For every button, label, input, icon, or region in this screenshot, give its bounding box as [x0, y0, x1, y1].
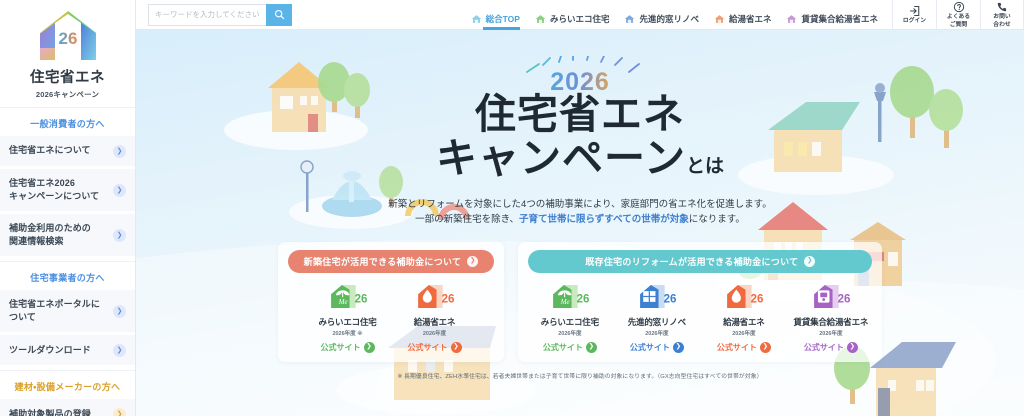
official-site-label: 公式サイト	[630, 342, 670, 353]
utility-item-label: お問い 合わせ	[993, 14, 1010, 28]
chevron-right-icon: ❯	[113, 145, 126, 158]
chevron-right-icon: ❯	[113, 305, 126, 318]
program-icon: 26	[808, 281, 854, 312]
sidebar-item-1-1[interactable]: 住宅省エネについて❯	[0, 136, 135, 166]
hero-title-line1: 住宅省エネ	[436, 92, 724, 136]
search-box	[148, 4, 292, 26]
program-name: 先進的窓リノベ	[628, 316, 686, 328]
hero-year-block: 2026	[505, 56, 655, 90]
svg-text:26: 26	[576, 294, 589, 306]
program-house-icon: Me26	[325, 281, 371, 312]
program-icon: 26	[634, 281, 680, 312]
program-card-給湯省エネ[interactable]: 26給湯省エネ2026年度公式サイト❯	[393, 281, 476, 353]
program-house-icon: 26	[808, 281, 854, 312]
utility-item-label: ログイン	[903, 18, 926, 25]
window-icon	[643, 291, 655, 302]
utility-item-label: よくある ご質問	[947, 14, 970, 28]
program-name: みらいエコ住宅	[318, 316, 376, 328]
program-card-賃貸集合給湯省エネ[interactable]: 26賃貸集合給湯省エネ2026年度公式サイト❯	[789, 281, 872, 353]
phone-icon	[996, 1, 1008, 13]
official-site-link[interactable]: 公式サイト❯	[408, 342, 462, 353]
page-title: 住宅省エネ キャンペーンとは	[436, 92, 724, 181]
arrow-right-circle-icon: ❯	[364, 342, 375, 353]
hero-year: 2026	[505, 68, 655, 97]
program-card-みらいエコ住宅[interactable]: Me26みらいエコ住宅2026年度公式サイト❯	[528, 281, 611, 353]
arrow-right-circle-icon: ❯	[467, 256, 478, 267]
subsidy-panel-2: 既存住宅のリフォームが活用できる補助金について❯Me26みらいエコ住宅2026年…	[518, 242, 882, 362]
program-name: みらいエコ住宅	[541, 316, 599, 328]
water-heater-icon	[818, 290, 830, 302]
house-icon	[714, 14, 725, 24]
program-house-icon: 26	[634, 281, 680, 312]
svg-text:Me: Me	[337, 299, 347, 306]
program-year: 2026年度	[645, 329, 668, 337]
program-house-icon: 26	[721, 281, 767, 312]
utility-item-1[interactable]: ログイン	[892, 0, 936, 30]
panel-header-button-1[interactable]: 新築住宅が活用できる補助金について❯	[288, 250, 495, 273]
svg-text:Me: Me	[560, 299, 570, 306]
program-card-みらいエコ住宅[interactable]: Me26みらいエコ住宅2026年度 ※公式サイト❯	[306, 281, 389, 353]
sidebar-item-label: ツールダウンロード	[9, 344, 91, 357]
hero-title-line2: キャンペーン	[436, 135, 686, 181]
sidebar-item-2-2[interactable]: ツールダウンロード❯	[0, 335, 135, 365]
nav-tab-label: みらいエコ住宅	[550, 13, 610, 25]
official-site-link[interactable]: 公式サイト❯	[804, 342, 858, 353]
panel-header-label: 既存住宅のリフォームが活用できる補助金について	[585, 255, 798, 268]
sidebar-item-3-1[interactable]: 補助対象製品の登録❯	[0, 399, 135, 416]
nav-tab-label: 賃貸集合給湯省エネ	[801, 13, 878, 25]
official-site-label: 公式サイト	[321, 342, 361, 353]
subsidy-panels: 新築住宅が活用できる補助金について❯Me26みらいエコ住宅2026年度 ※公式サ…	[278, 242, 883, 362]
program-name: 賃貸集合給湯省エネ	[793, 316, 868, 328]
program-year: 2026年度 ※	[332, 329, 362, 337]
official-site-link[interactable]: 公式サイト❯	[630, 342, 684, 353]
arrow-right-circle-icon: ❯	[760, 342, 771, 353]
arrow-right-circle-icon: ❯	[586, 342, 597, 353]
login-icon	[909, 5, 921, 17]
program-name: 給湯省エネ	[414, 316, 456, 328]
sidebar: 26 住宅省エネ 2026キャンペーン 一般消費者の方へ住宅省エネについて❯住宅…	[0, 0, 136, 416]
sidebar-item-1-2[interactable]: 住宅省エネ2026 キャンペーンについて❯	[0, 169, 135, 211]
sidebar-item-1-3[interactable]: 補助金利用のための 関連情報検索❯	[0, 214, 135, 256]
sidebar-item-label: 補助対象製品の登録	[9, 408, 91, 416]
panel-cards: Me26みらいエコ住宅2026年度 ※公式サイト❯26給湯省エネ2026年度公式…	[288, 281, 495, 353]
sidebar-item-label: 住宅省エネポータルについて	[9, 298, 109, 324]
program-card-先進的窓リノベ[interactable]: 26先進的窓リノベ2026年度公式サイト❯	[615, 281, 698, 353]
primary-nav: 総合TOPみらいエコ住宅先進的窓リノベ給湯省エネ賃貸集合給湯省エネ	[471, 0, 878, 30]
panel-cards: Me26みらいエコ住宅2026年度公式サイト❯26先進的窓リノベ2026年度公式…	[528, 281, 872, 353]
panel-header-button-2[interactable]: 既存住宅のリフォームが活用できる補助金について❯	[528, 250, 872, 273]
question-circle-icon	[953, 1, 965, 13]
official-site-link[interactable]: 公式サイト❯	[717, 342, 771, 353]
nav-tab-2[interactable]: みらいエコ住宅	[535, 0, 610, 30]
hero-desc-highlight: 子育て世帯に限らずすべての世帯が対象	[519, 214, 689, 225]
sidebar-item-label: 住宅省エネについて	[9, 144, 91, 157]
sidebar-item-2-1[interactable]: 住宅省エネポータルについて❯	[0, 290, 135, 332]
logo-subtitle: 2026キャンペーン	[36, 89, 99, 100]
program-house-icon: 26	[412, 281, 458, 312]
program-year: 2026年度	[732, 329, 755, 337]
arrow-right-circle-icon: ❯	[804, 256, 815, 267]
house-icon	[624, 14, 635, 24]
nav-tab-4[interactable]: 給湯省エネ	[714, 0, 772, 30]
chevron-right-icon: ❯	[113, 344, 126, 357]
svg-text:26: 26	[663, 294, 676, 306]
utility-nav: ログインよくある ご質問お問い 合わせ	[892, 0, 1024, 30]
sidebar-section-heading: 建材・設備メーカーの方へ	[0, 371, 135, 399]
sidebar-section-heading: 住宅事業者の方へ	[0, 262, 135, 290]
svg-text:26: 26	[837, 294, 850, 306]
svg-text:26: 26	[750, 294, 763, 306]
official-site-link[interactable]: 公式サイト❯	[321, 342, 375, 353]
official-site-label: 公式サイト	[408, 342, 448, 353]
hero-description: 新築とリフォームを対象にした4つの補助事業により、家庭部門の省エネ化を促進します…	[388, 197, 771, 228]
nav-tab-label: 総合TOP	[486, 13, 520, 25]
main-area: 総合TOPみらいエコ住宅先進的窓リノベ給湯省エネ賃貸集合給湯省エネ ログインよく…	[136, 0, 1024, 416]
sidebar-nav: 一般消費者の方へ住宅省エネについて❯住宅省エネ2026 キャンペーンについて❯補…	[0, 108, 135, 416]
chevron-right-icon: ❯	[113, 184, 126, 197]
program-house-icon: Me26	[547, 281, 593, 312]
site-logo[interactable]: 26 住宅省エネ 2026キャンペーン	[0, 0, 135, 108]
house-icon	[786, 14, 797, 24]
house-icon	[535, 14, 546, 24]
svg-text:26: 26	[58, 29, 77, 48]
hero-desc-line1: 新築とリフォームを対象にした4つの補助事業により、家庭部門の省エネ化を促進します…	[388, 197, 771, 213]
program-icon: 26	[721, 281, 767, 312]
chevron-right-icon: ❯	[113, 229, 126, 242]
program-year: 2026年度	[558, 329, 581, 337]
official-site-label: 公式サイト	[717, 342, 757, 353]
utility-item-2[interactable]: よくある ご質問	[936, 0, 980, 30]
program-icon: 26	[412, 281, 458, 312]
official-site-label: 公式サイト	[804, 342, 844, 353]
sidebar-item-label: 住宅省エネ2026 キャンペーンについて	[9, 177, 99, 203]
official-site-label: 公式サイト	[543, 342, 583, 353]
utility-item-3[interactable]: お問い 合わせ	[980, 0, 1024, 30]
house-icon	[471, 14, 482, 24]
arrow-right-circle-icon: ❯	[847, 342, 858, 353]
svg-text:26: 26	[354, 294, 367, 306]
nav-tab-1[interactable]: 総合TOP	[471, 0, 520, 30]
arrow-right-circle-icon: ❯	[673, 342, 684, 353]
hero-desc-pre: 一部の新築住宅を除き、	[415, 214, 519, 225]
arrow-right-circle-icon: ❯	[451, 342, 462, 353]
search-icon	[274, 9, 285, 20]
panel-header-label: 新築住宅が活用できる補助金について	[304, 255, 462, 268]
chevron-right-icon: ❯	[113, 408, 126, 416]
hero-title-suffix: とは	[686, 156, 724, 177]
top-bar: 総合TOPみらいエコ住宅先進的窓リノベ給湯省エネ賃貸集合給湯省エネ ログインよく…	[136, 0, 1024, 30]
program-year: 2026年度	[423, 329, 446, 337]
nav-tab-3[interactable]: 先進的窓リノベ	[624, 0, 699, 30]
nav-tab-label: 給湯省エネ	[729, 13, 772, 25]
nav-tab-5[interactable]: 賃貸集合給湯省エネ	[786, 0, 878, 30]
hero-desc-post: になります。	[689, 214, 745, 225]
hero-section: 2026 住宅省エネ キャンペーンとは 新築とリフォームを対象にした4つの補助事…	[136, 30, 1024, 416]
hero-desc-line2: 一部の新築住宅を除き、子育て世帯に限らずすべての世帯が対象になります。	[388, 212, 771, 228]
program-card-給湯省エネ[interactable]: 26給湯省エネ2026年度公式サイト❯	[702, 281, 785, 353]
logo-title: 住宅省エネ	[30, 66, 105, 87]
search-input[interactable]	[148, 4, 266, 26]
sidebar-section-heading: 一般消費者の方へ	[0, 108, 135, 136]
program-name: 給湯省エネ	[723, 316, 765, 328]
sidebar-item-label: 補助金利用のための 関連情報検索	[9, 222, 91, 248]
program-year: 2026年度	[819, 329, 842, 337]
house-logo-icon: 26	[37, 8, 99, 64]
search-button[interactable]	[266, 4, 292, 26]
footnote: ※ 長期優良住宅、ZEH水準住宅は、若者夫婦世帯または子育て世帯に限り補助の対象…	[397, 371, 762, 380]
nav-tab-label: 先進的窓リノベ	[639, 13, 699, 25]
subsidy-panel-1: 新築住宅が活用できる補助金について❯Me26みらいエコ住宅2026年度 ※公式サ…	[278, 242, 505, 362]
svg-text:26: 26	[441, 294, 454, 306]
program-icon: Me26	[325, 281, 371, 312]
program-icon: Me26	[547, 281, 593, 312]
official-site-link[interactable]: 公式サイト❯	[543, 342, 597, 353]
